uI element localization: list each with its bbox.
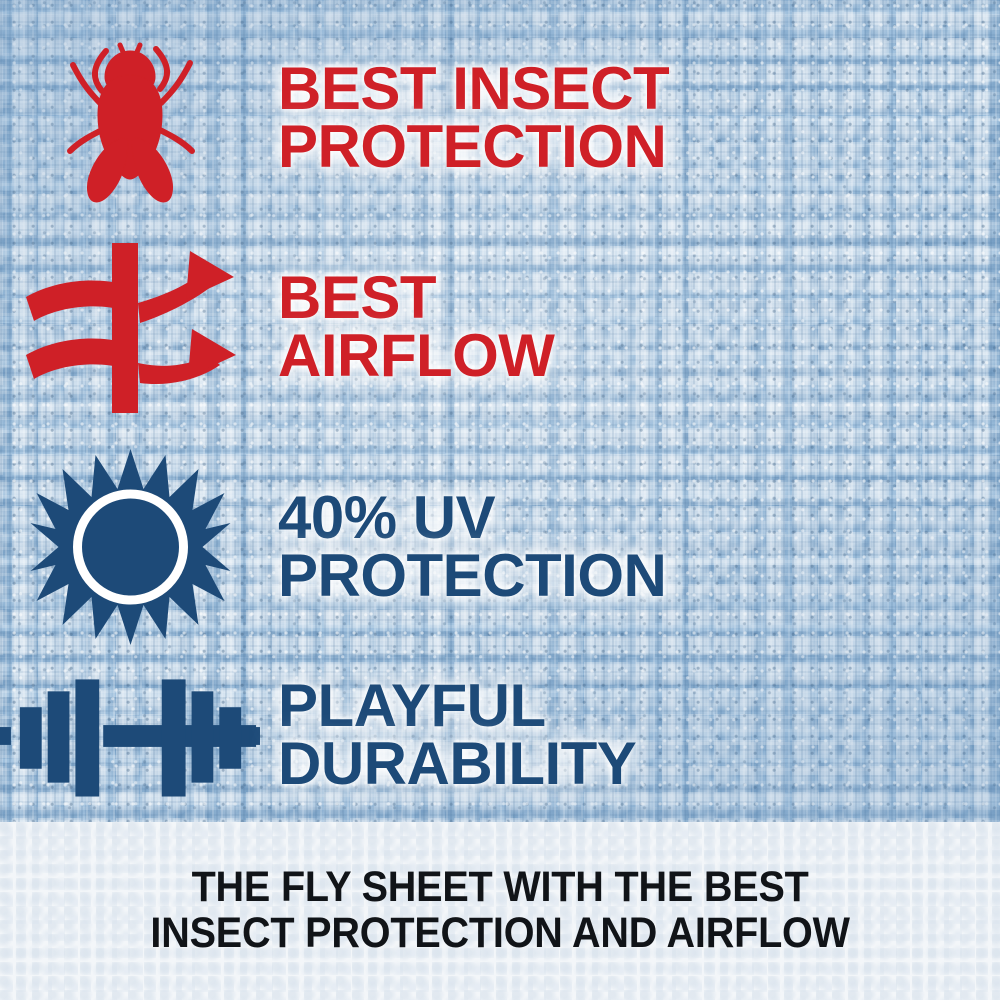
feature-icon-cell	[0, 665, 260, 805]
feature-headline-durability: PLAYFUL DURABILITY	[278, 677, 636, 793]
feature-icon-cell	[0, 447, 260, 647]
poster-caption: THE FLY SHEET WITH THE BEST INSECT PROTE…	[150, 865, 849, 956]
feature-text-cell: BEST AIRFLOW	[260, 269, 554, 385]
feature-headline-insect-protection: BEST INSECT PROTECTION	[278, 60, 669, 176]
feature-text-cell: BEST INSECT PROTECTION	[260, 60, 669, 176]
feature-text-cell: 40% UV PROTECTION	[260, 489, 666, 605]
feature-row-durability: PLAYFUL DURABILITY	[0, 655, 1000, 815]
dumbbell-icon	[0, 665, 260, 805]
airflow-through-barrier-icon	[20, 237, 240, 417]
product-feature-poster: BEST INSECT PROTECTION	[0, 0, 1000, 1000]
feature-row-airflow: BEST AIRFLOW	[0, 232, 1000, 422]
fly-icon	[40, 23, 220, 213]
caption-band: THE FLY SHEET WITH THE BEST INSECT PROTE…	[0, 822, 1000, 1000]
feature-icon-cell	[0, 23, 260, 213]
feature-row-uv-protection: 40% UV PROTECTION	[0, 442, 1000, 652]
feature-row-insect-protection: BEST INSECT PROTECTION	[0, 18, 1000, 218]
sun-uv-icon	[28, 447, 233, 647]
feature-text-cell: PLAYFUL DURABILITY	[260, 677, 636, 793]
feature-headline-airflow: BEST AIRFLOW	[278, 269, 554, 385]
feature-headline-uv-protection: 40% UV PROTECTION	[278, 489, 666, 605]
feature-icon-cell	[0, 237, 260, 417]
